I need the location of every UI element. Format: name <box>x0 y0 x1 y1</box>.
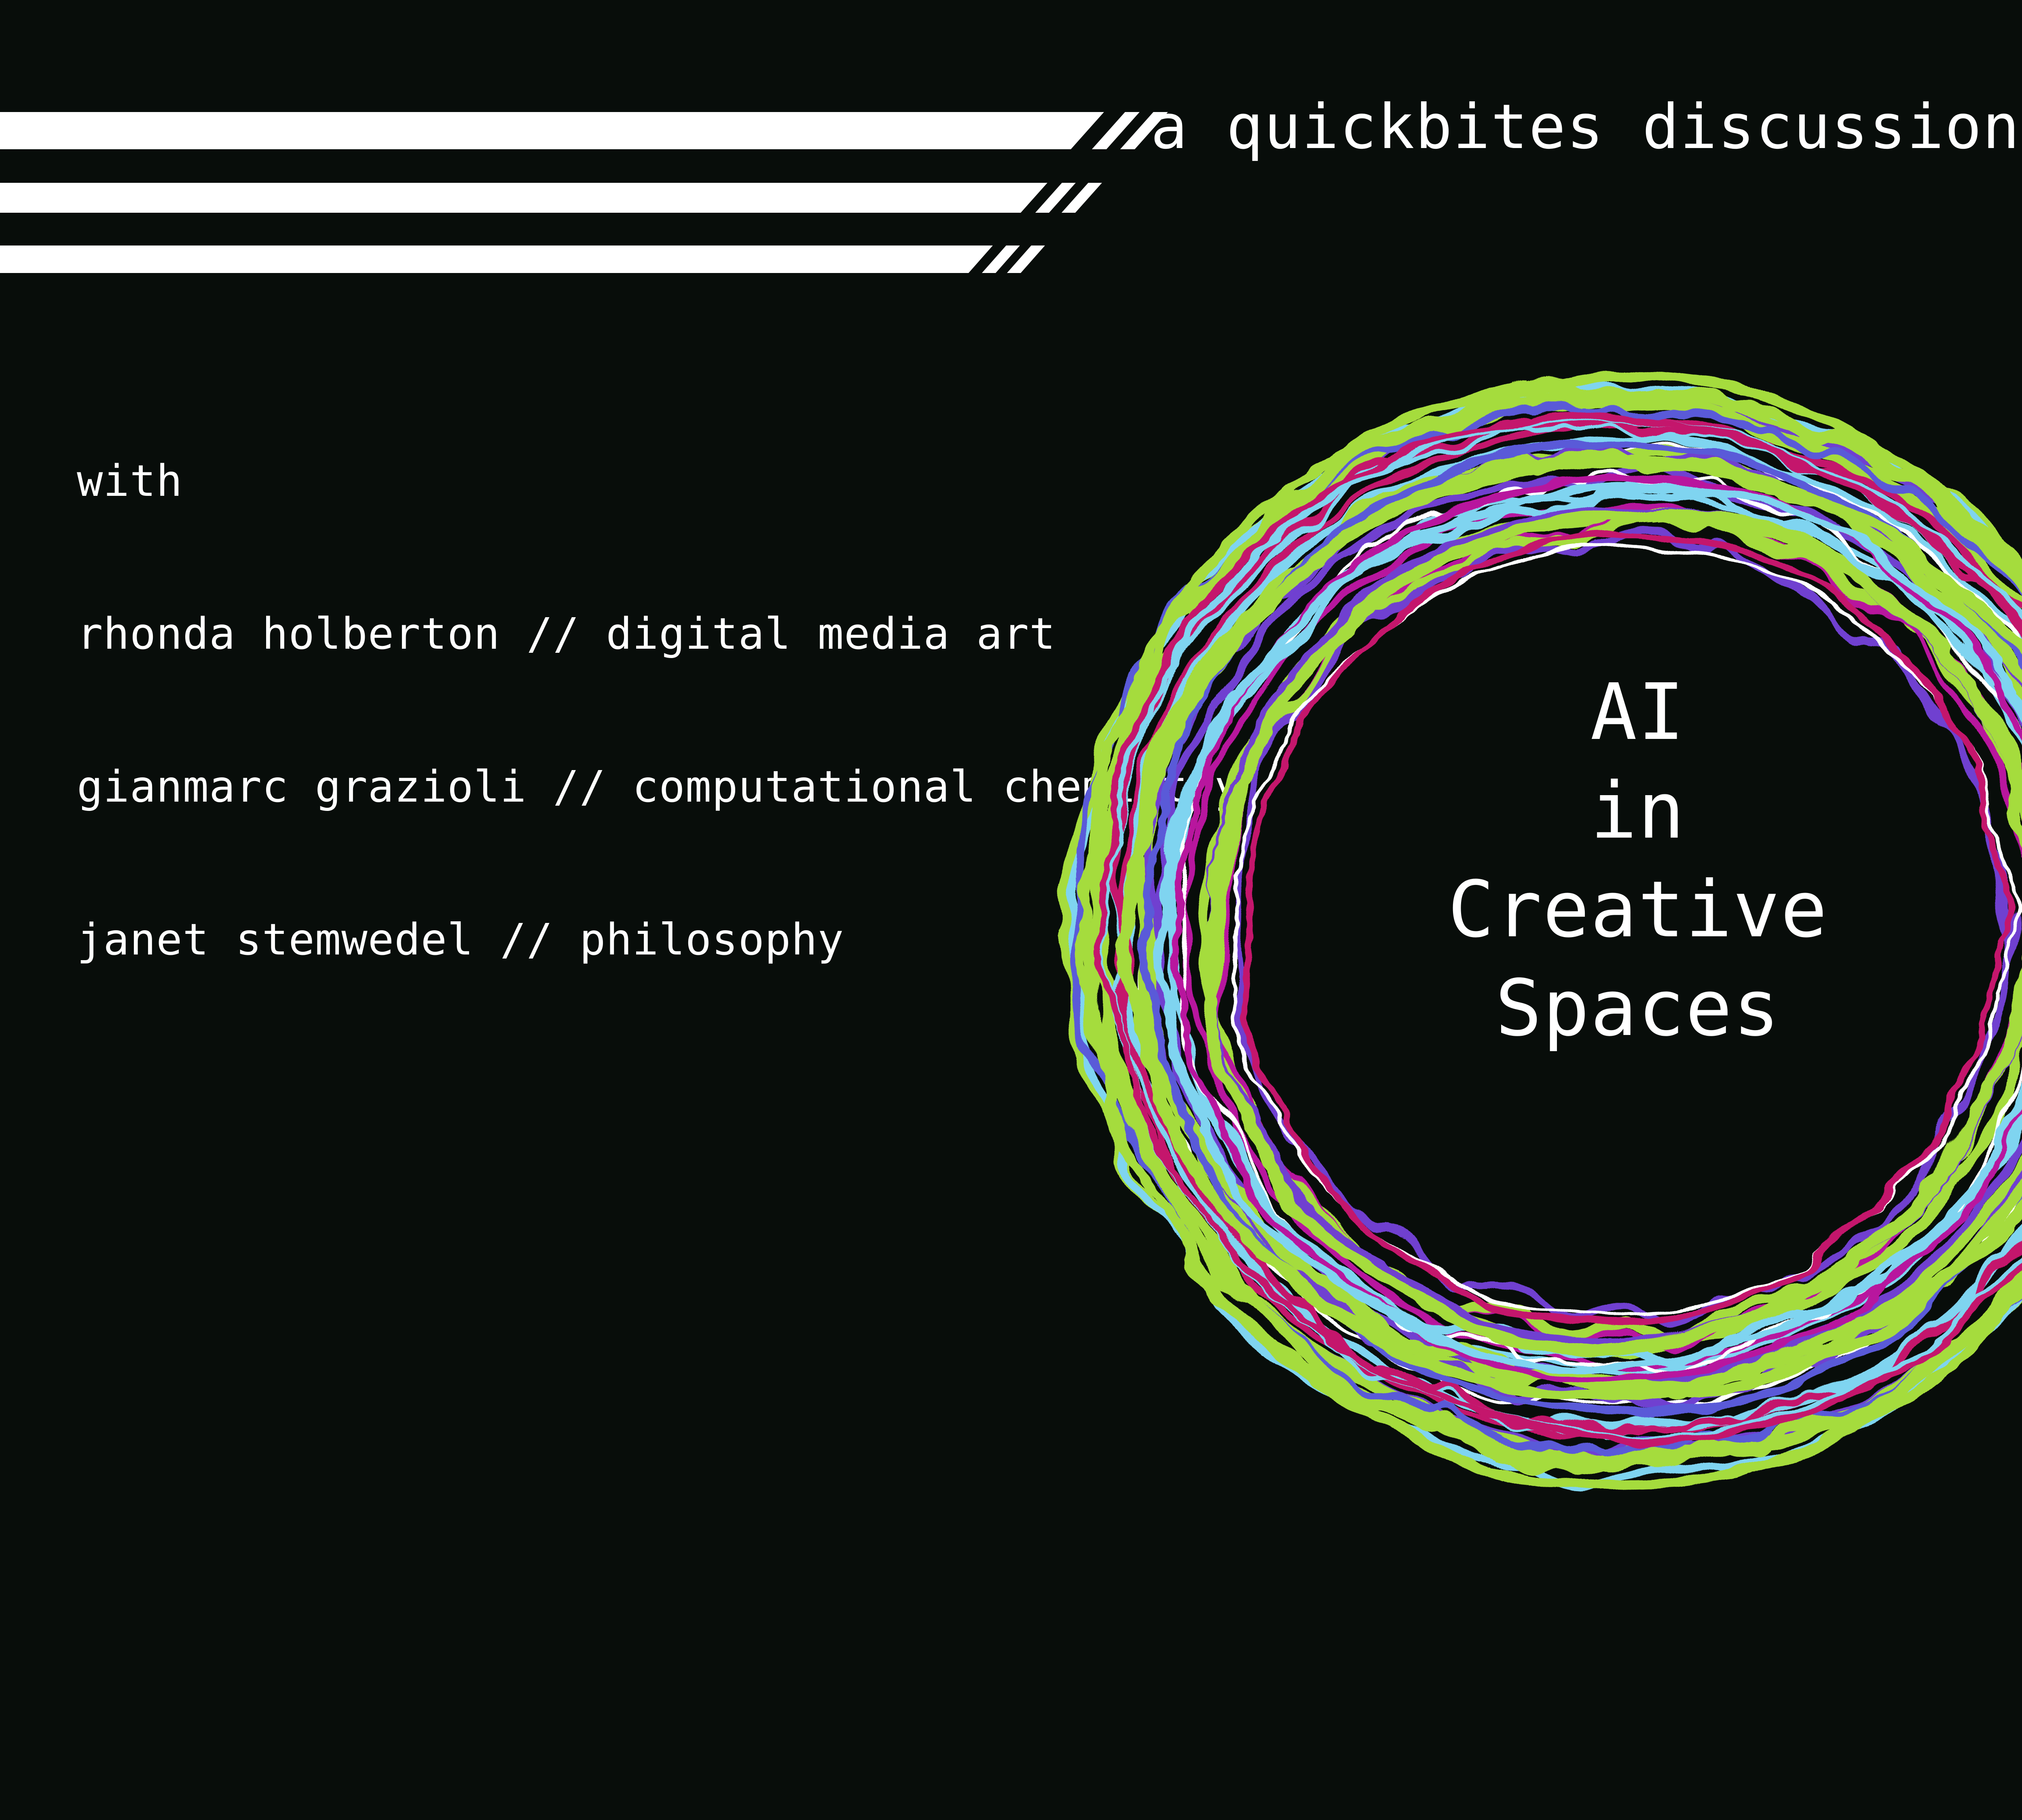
artwork-title-line-4: Spaces <box>1274 959 2002 1058</box>
artwork-title: AI in Creative Spaces <box>1274 663 2002 1058</box>
header-rule-1-body <box>0 112 1104 149</box>
artwork-title-line-1: AI <box>1274 663 2002 762</box>
artwork-title-line-2: in <box>1274 762 2002 861</box>
page-title: a quickbites discussion <box>1151 91 2020 163</box>
header-rule-3-body <box>0 245 993 273</box>
poster-canvas: a quickbites discussion with rhonda holb… <box>0 0 2022 1820</box>
header-rule-2-body <box>0 183 1047 213</box>
artwork-title-line-3: Creative <box>1274 861 2002 959</box>
